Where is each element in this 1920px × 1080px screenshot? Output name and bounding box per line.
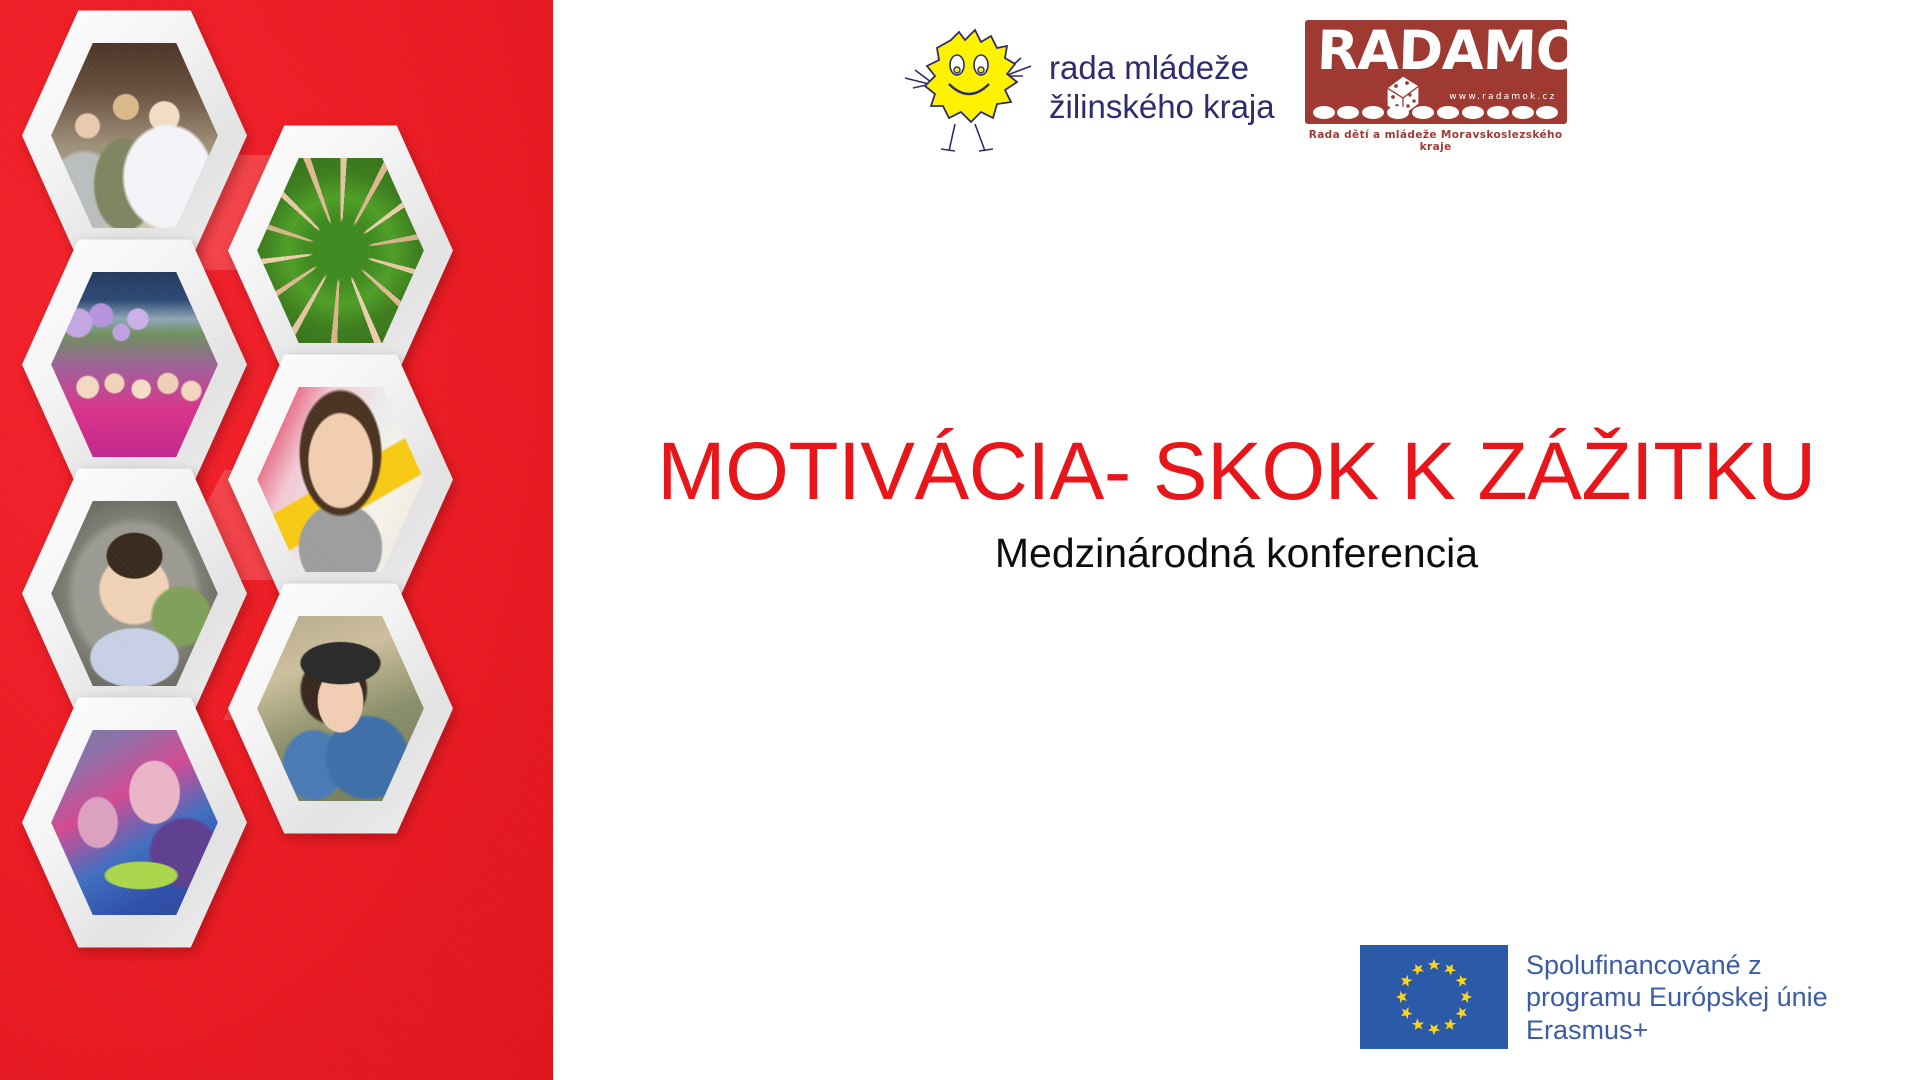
eu-flag-icon	[1360, 945, 1508, 1049]
hex-photo-colorfest	[22, 695, 247, 950]
hex-photo-hands	[228, 123, 453, 378]
left-red-panel	[0, 0, 553, 1080]
rmzk-line-1: rada mládeže	[1049, 49, 1275, 88]
erasmus-line-2: programu Európskej únie	[1526, 981, 1828, 1013]
radamok-plate: RADAMOK www.radamok.cz	[1305, 20, 1567, 124]
radamok-caption: Rada dětí a mládeže Moravskoslezského kr…	[1305, 129, 1567, 153]
erasmus-eu-logo: Spolufinancované z programu Európskej ún…	[1360, 945, 1828, 1049]
radamok-wordmark: RADAMOK	[1316, 24, 1622, 78]
erasmus-line-1: Spolufinancované z	[1526, 949, 1828, 981]
partner-logo-bar: rada mládeže žilinského kraja RADAMOK	[893, 20, 1567, 155]
radamok-url: www.radamok.cz	[1449, 92, 1556, 102]
page-title: MOTIVÁCIA- SKOK K ZÁŽITKU	[553, 425, 1920, 519]
hex-photo-hat	[228, 581, 453, 836]
hex-photo-woman	[228, 352, 453, 607]
rmzk-line-2: žilinského kraja	[1049, 88, 1275, 127]
slide-content-area: rada mládeže žilinského kraja RADAMOK	[553, 0, 1920, 1080]
radamok-logo: RADAMOK www.radamok.cz	[1305, 20, 1567, 153]
rmzk-logo: rada mládeže žilinského kraja	[893, 20, 1275, 155]
hex-photo-man	[22, 466, 247, 721]
page-subtitle: Medzinárodná konferencia	[553, 530, 1920, 577]
eu-stars-icon	[1360, 945, 1508, 1049]
erasmus-logo-text: Spolufinancované z programu Európskej ún…	[1526, 945, 1828, 1046]
rmzk-logo-text: rada mládeže žilinského kraja	[1049, 49, 1275, 127]
radamok-dot-strip	[1313, 106, 1559, 119]
zilina-region-mascot-icon	[893, 20, 1043, 155]
erasmus-line-3: Erasmus+	[1526, 1014, 1828, 1046]
hex-photo-kids	[22, 237, 247, 492]
hex-photo-audience	[22, 8, 247, 263]
